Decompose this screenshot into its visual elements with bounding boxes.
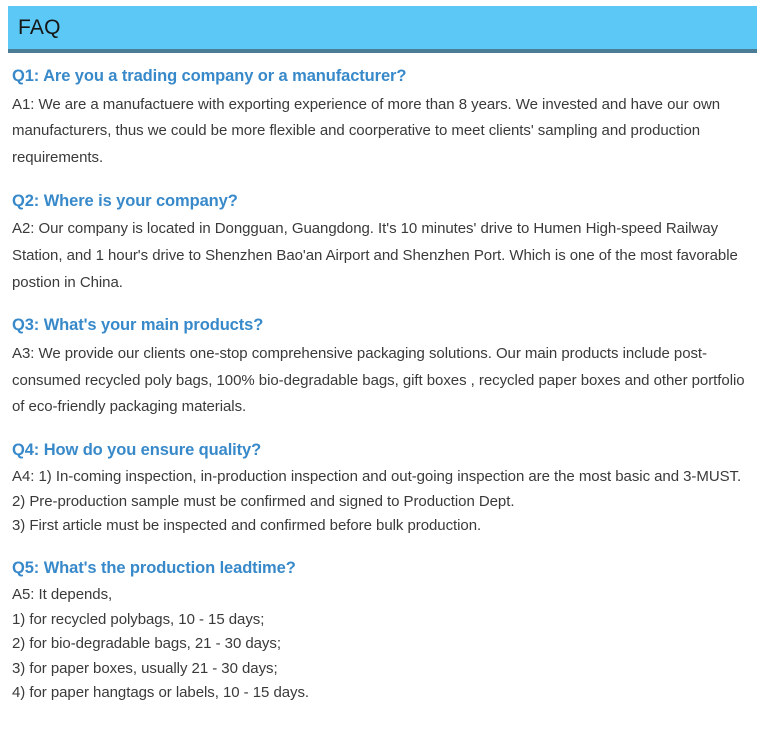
faq-answer-4-line-2: 2) Pre-production sample must be confirm… [12,490,753,514]
faq-answer-1: A1: We are a manufactuere with exporting… [12,92,753,172]
faq-answer-5-line-2: 1) for recycled polybags, 10 - 15 days; [12,608,753,632]
faq-answer-5-line-5: 4) for paper hangtags or labels, 10 - 15… [12,681,753,705]
faq-answer-4: A4: 1) In-coming inspection, in-producti… [12,465,753,538]
faq-question-1: Q1: Are you a trading company or a manuf… [12,64,753,90]
faq-item-2: Q2: Where is your company? A2: Our compa… [12,189,753,297]
faq-item-3: Q3: What's your main products? A3: We pr… [12,313,753,421]
faq-answer-4-line-3: 3) First article must be inspected and c… [12,514,753,538]
faq-item-4: Q4: How do you ensure quality? A4: 1) In… [12,438,753,539]
faq-question-2: Q2: Where is your company? [12,189,753,215]
faq-question-3: Q3: What's your main products? [12,313,753,339]
faq-question-4: Q4: How do you ensure quality? [12,438,753,464]
faq-item-1: Q1: Are you a trading company or a manuf… [12,64,753,172]
faq-header-bar: FAQ [8,6,757,53]
faq-answer-5-line-4: 3) for paper boxes, usually 21 - 30 days… [12,657,753,681]
faq-content: Q1: Are you a trading company or a manuf… [0,64,765,706]
faq-item-5: Q5: What's the production leadtime? A5: … [12,556,753,706]
faq-answer-5: A5: It depends, 1) for recycled polybags… [12,583,753,705]
faq-answer-2: A2: Our company is located in Dongguan, … [12,216,753,296]
faq-question-5: Q5: What's the production leadtime? [12,556,753,582]
faq-answer-3: A3: We provide our clients one-stop comp… [12,341,753,421]
faq-page: FAQ Q1: Are you a trading company or a m… [0,0,765,748]
faq-answer-4-line-1: A4: 1) In-coming inspection, in-producti… [12,465,753,489]
faq-answer-5-line-1: A5: It depends, [12,583,753,607]
page-title: FAQ [8,17,61,38]
faq-answer-5-line-3: 2) for bio-degradable bags, 21 - 30 days… [12,632,753,656]
